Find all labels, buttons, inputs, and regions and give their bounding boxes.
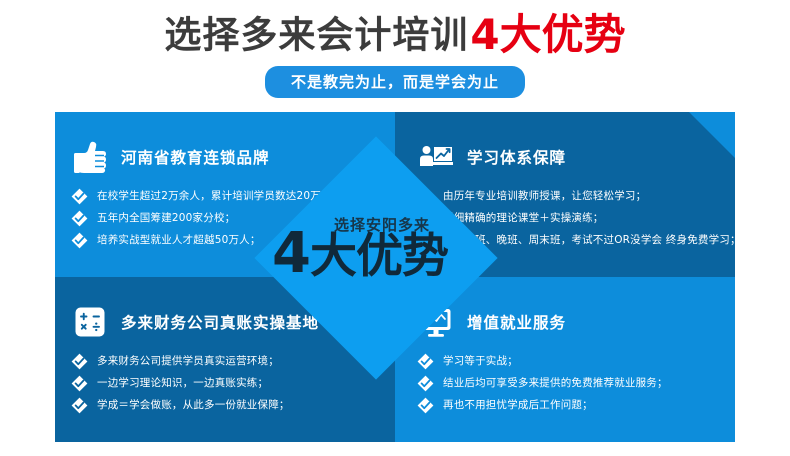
bullet-item: 由历年专业培训教师授课，让您轻松学习； xyxy=(417,188,735,206)
page-header: 选择多来会计培训4大优势 不是教完为止，而是学会为止 xyxy=(0,0,790,110)
center-label: 大优势 xyxy=(310,229,448,284)
bullet-item: 一边学习理论知识，一边真账实练； xyxy=(71,375,290,393)
bullet-text: 一边学习理论知识，一边真账实练； xyxy=(97,375,268,392)
bullet-text: 学习等于实战； xyxy=(443,353,518,370)
check-diamond-icon xyxy=(417,397,434,414)
board-corner-accent-top-right xyxy=(689,112,735,158)
bullet-text: 由历年专业培训教师授课，让您轻松学习； xyxy=(443,188,646,205)
thumbs-up-icon xyxy=(73,140,107,174)
check-diamond-icon xyxy=(71,353,88,370)
bullet-text: 再也不用担忧学成后工作问题； xyxy=(443,397,593,414)
bullet-item: 多来财务公司提供学员真实运营环境； xyxy=(71,353,290,371)
check-diamond-icon xyxy=(71,188,88,205)
bullet-item: 学成＝学会做账，从此多一份就业保障； xyxy=(71,397,290,415)
bullet-item: 再也不用担忧学成后工作问题； xyxy=(417,397,668,415)
quadrant-header-top-left: 河南省教育连锁品牌 xyxy=(73,140,270,174)
check-diamond-icon xyxy=(417,375,434,392)
quadrant-title: 增值就业服务 xyxy=(467,311,566,333)
bullet-item: 结业后均可享受多来提供的免费推荐就业服务； xyxy=(417,375,668,393)
teacher-presentation-icon xyxy=(419,140,453,174)
check-diamond-icon xyxy=(417,353,434,370)
calculator-icon xyxy=(73,305,107,339)
bullet-text: 结业后均可享受多来提供的免费推荐就业服务； xyxy=(443,375,668,392)
subtitle-badge: 不是教完为止，而是学会为止 xyxy=(265,66,525,98)
quadrant-title: 学习体系保障 xyxy=(467,146,566,168)
center-number: 4 xyxy=(272,221,310,286)
bullet-text: 学成＝学会做账，从此多一份就业保障； xyxy=(97,397,290,414)
check-diamond-icon xyxy=(71,397,88,414)
bullet-text: 多来财务公司提供学员真实运营环境； xyxy=(97,353,279,370)
advantages-board: 河南省教育连锁品牌 在校学生超过2万余人，累计培训学员数达20万人次； xyxy=(55,112,735,442)
quadrant-bullets-bottom-right: 学习等于实战； 结业后均可享受多来提供的免费推荐就业服务； xyxy=(417,353,668,419)
check-diamond-icon xyxy=(71,210,88,227)
page-title: 选择多来会计培训4大优势 xyxy=(0,14,790,56)
title-main-text: 选择多来会计培训 xyxy=(164,14,468,57)
check-diamond-icon xyxy=(71,232,88,249)
quadrant-title: 河南省教育连锁品牌 xyxy=(121,146,270,168)
bullet-text: 培养实战型就业人才超越50万人； xyxy=(97,232,261,249)
quadrant-bullets-bottom-left: 多来财务公司提供学员真实运营环境； 一边学习理论知识，一边真账实练； xyxy=(71,353,290,419)
bullet-text: 五年内全国筹建200家分校； xyxy=(97,210,235,227)
bullet-item: 学习等于实战； xyxy=(417,353,668,371)
center-diamond-content: 选择安阳多来 4大优势 xyxy=(290,172,462,344)
subtitle-container: 不是教完为止，而是学会为止 xyxy=(0,66,790,98)
center-headline: 4大优势 xyxy=(272,226,448,282)
quadrant-header-bottom-left: 多来财务公司真账实操基地 xyxy=(73,305,319,339)
quadrant-header-top-right: 学习体系保障 xyxy=(419,140,566,174)
check-diamond-icon xyxy=(71,375,88,392)
bullet-text: 详细精确的理论课堂＋实操演练； xyxy=(443,210,604,227)
title-accent-text: 4大优势 xyxy=(470,10,625,59)
